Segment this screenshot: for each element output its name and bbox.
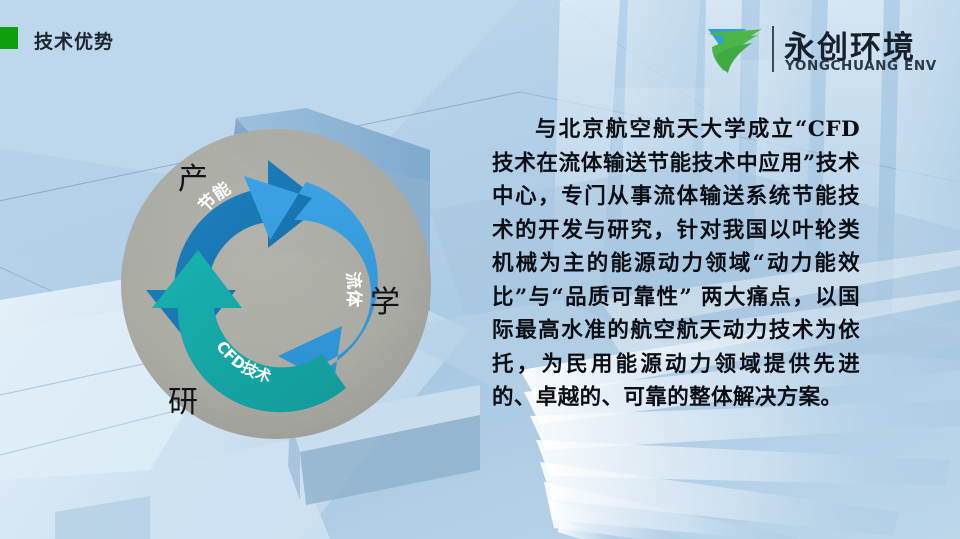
company-logo: 永创环境 YONGCHUANG ENV bbox=[706, 22, 926, 82]
cycle-corner-yan: 研 bbox=[168, 377, 198, 421]
yongchuang-leaf-logo-icon bbox=[706, 25, 764, 75]
section-marker bbox=[0, 27, 18, 49]
body-paragraph: 与北京航空航天大学成立“CFD技术在流体输送节能技术中应用”技术中心，专门从事流… bbox=[492, 113, 860, 415]
presentation-slide: 技术优势 永创环境 YONGCHUANG ENV bbox=[0, 0, 960, 539]
logo-divider bbox=[772, 26, 774, 72]
cycle-corner-chan: 产 bbox=[178, 154, 208, 198]
logo-english-name: YONGCHUANG ENV bbox=[785, 58, 937, 74]
page-title: 技术优势 bbox=[34, 27, 114, 54]
cycle-diagram: 节能 流体 CFD技术 产 学 研 bbox=[118, 122, 438, 452]
cycle-corner-xue: 学 bbox=[370, 277, 400, 321]
